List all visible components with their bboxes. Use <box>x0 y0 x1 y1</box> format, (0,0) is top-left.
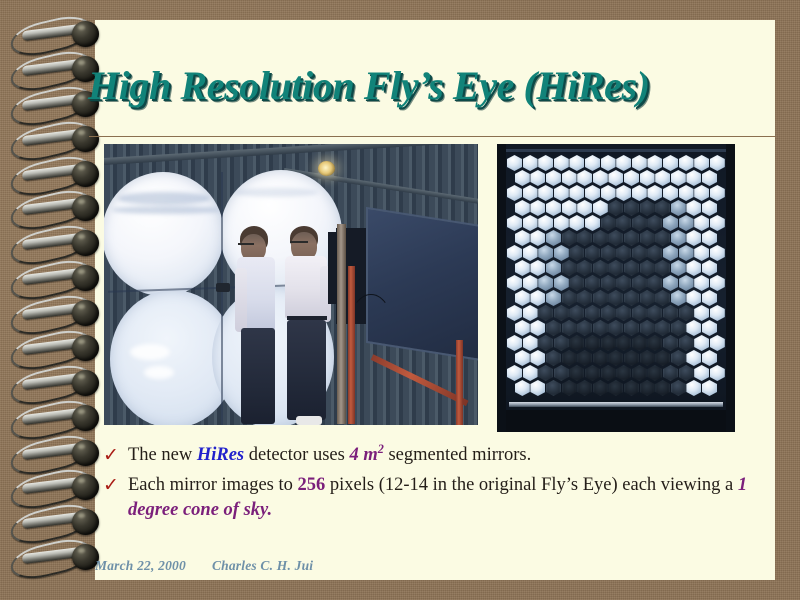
pmt-tube <box>538 185 553 201</box>
pmt-tube <box>640 170 655 186</box>
person-right-glasses <box>290 241 308 247</box>
pmt-tube <box>546 320 561 336</box>
pmt-tube <box>538 275 553 291</box>
pmt-tube <box>585 155 600 171</box>
title-divider-rule <box>89 136 775 137</box>
list-item: ✓ Each mirror images to 256 pixels (12-1… <box>100 473 760 523</box>
bullet-1-seg-0: The new <box>128 445 197 465</box>
pmt-tube <box>686 230 701 246</box>
footer-date: March 22, 2000 <box>95 558 186 573</box>
bullet-1-hires-emphasis: HiRes <box>197 445 244 465</box>
pmt-tube <box>694 365 709 381</box>
pmt-tube <box>647 335 662 351</box>
pmt-tube <box>624 170 639 186</box>
pmt-tube <box>601 335 616 351</box>
pmt-tube <box>655 350 670 366</box>
pmt-tube <box>702 230 717 246</box>
pmt-tube <box>577 380 592 396</box>
pmt-tube <box>686 260 701 276</box>
pmt-tube <box>546 290 561 306</box>
bullet-1-seg-5: segmented mirrors. <box>384 445 531 465</box>
pmt-tube <box>523 305 538 321</box>
bullet-2-pixel-count: 256 <box>298 475 326 495</box>
pmt-tube <box>562 260 577 276</box>
pmt-tube <box>710 245 725 261</box>
pmt-tube <box>663 245 678 261</box>
pmt-tube <box>671 320 686 336</box>
pmt-tube <box>616 365 631 381</box>
pmt-tube <box>546 230 561 246</box>
pmt-tube <box>671 380 686 396</box>
pmt-tube <box>577 260 592 276</box>
pmt-tube <box>608 320 623 336</box>
pmt-tube <box>577 350 592 366</box>
pmt-tube <box>632 215 647 231</box>
pmt-tube <box>671 200 686 216</box>
mirror-segment-top-left <box>104 172 224 296</box>
pmt-tube <box>686 320 701 336</box>
pmt-tube <box>577 200 592 216</box>
pmt-tube <box>663 215 678 231</box>
person-right-pants <box>287 320 326 420</box>
pmt-tube <box>523 275 538 291</box>
pmt-tube <box>601 185 616 201</box>
pmt-tube <box>538 335 553 351</box>
pmt-tube <box>507 245 522 261</box>
pmt-tube <box>679 185 694 201</box>
pmt-tube <box>655 320 670 336</box>
pmt-tube <box>530 170 545 186</box>
checkmark-icon: ✓ <box>100 443 128 467</box>
pmt-tube <box>593 200 608 216</box>
pmt-tube <box>554 185 569 201</box>
pmt-tube <box>679 155 694 171</box>
bullet-list: ✓ The new HiRes detector uses 4 m2 segme… <box>100 443 760 528</box>
pmt-tube <box>616 305 631 321</box>
bullet-text-1: The new HiRes detector uses 4 m2 segment… <box>128 443 760 468</box>
mirror-smudge-3 <box>234 188 318 197</box>
pmt-tube <box>507 155 522 171</box>
pmt-tube <box>523 215 538 231</box>
pmt-tube <box>694 245 709 261</box>
pmt-tube <box>640 260 655 276</box>
pmt-tube <box>593 230 608 246</box>
person-left-pants <box>241 328 275 424</box>
pmt-tube <box>616 215 631 231</box>
pmt-tube <box>608 260 623 276</box>
pmt-tube <box>663 305 678 321</box>
person-left-arm <box>235 268 247 332</box>
pmt-tube <box>710 305 725 321</box>
pmt-tube <box>569 185 584 201</box>
pmt-tube <box>702 170 717 186</box>
pmt-tube <box>569 365 584 381</box>
pmt-tube <box>702 290 717 306</box>
pmt-tube <box>655 230 670 246</box>
pmt-tube <box>663 155 678 171</box>
pmt-tube <box>679 305 694 321</box>
pmt-tube <box>562 350 577 366</box>
pmt-tube <box>710 215 725 231</box>
pmt-tube <box>616 185 631 201</box>
pmt-tube <box>616 245 631 261</box>
checkmark-icon: ✓ <box>100 473 128 497</box>
pmt-tube <box>569 335 584 351</box>
pmt-tube <box>601 215 616 231</box>
pmt-tube <box>577 320 592 336</box>
pmt-tube <box>663 335 678 351</box>
pmt-tube <box>523 155 538 171</box>
pmt-tube <box>608 170 623 186</box>
pmt-tube <box>647 365 662 381</box>
pmt-tube <box>530 260 545 276</box>
mirror-smudge <box>118 192 210 205</box>
pmt-tube <box>702 260 717 276</box>
pmt-tube <box>679 215 694 231</box>
pmt-tube <box>624 320 639 336</box>
pmt-tube <box>632 305 647 321</box>
pmt-tube <box>554 335 569 351</box>
pmt-tube <box>538 365 553 381</box>
pmt-tube <box>538 155 553 171</box>
pmt-tube <box>515 200 530 216</box>
pmt-tube <box>640 230 655 246</box>
pmt-tube <box>632 185 647 201</box>
title-block: High Resolution Fly’s Eye (HiRes) <box>88 62 778 124</box>
pmt-tube <box>523 365 538 381</box>
pmt-tube <box>562 170 577 186</box>
pmt-tube <box>671 170 686 186</box>
pmt-tube <box>515 230 530 246</box>
pmt-tube <box>569 305 584 321</box>
pmt-tube <box>632 365 647 381</box>
pmt-tube <box>647 185 662 201</box>
pmt-tube <box>546 380 561 396</box>
pmt-tube <box>694 155 709 171</box>
camera-left-edge <box>497 144 506 432</box>
slide: High Resolution Fly’s Eye (HiRes) <box>0 0 800 600</box>
pmt-tube <box>671 230 686 246</box>
bullet-text-2: Each mirror images to 256 pixels (12-14 … <box>128 473 760 523</box>
pmt-tube <box>530 320 545 336</box>
pmt-tube <box>530 380 545 396</box>
mirror-seam-vertical <box>221 172 223 425</box>
pmt-tube <box>616 335 631 351</box>
camera-rail <box>509 402 723 407</box>
camera-right-edge <box>726 144 735 432</box>
pmt-tube <box>530 350 545 366</box>
pmt-tube <box>538 215 553 231</box>
pmt-tube <box>686 350 701 366</box>
pmt-tube <box>686 170 701 186</box>
pmt-tube <box>593 380 608 396</box>
pmt-tube <box>601 245 616 261</box>
pmt-tube <box>655 170 670 186</box>
pmt-tube <box>608 290 623 306</box>
pmt-tube <box>585 275 600 291</box>
pmt-tube <box>530 290 545 306</box>
pmt-tube <box>702 350 717 366</box>
pmt-tube <box>624 200 639 216</box>
pmt-tube <box>647 305 662 321</box>
pmt-tube <box>515 260 530 276</box>
pmt-tube <box>710 155 725 171</box>
pmt-tube <box>702 200 717 216</box>
pmt-tube <box>702 320 717 336</box>
pmt-tube <box>679 365 694 381</box>
mirror-reflection-cloud-2 <box>144 366 174 379</box>
pmt-tube <box>562 200 577 216</box>
pmt-tube <box>640 200 655 216</box>
pmt-tube <box>632 335 647 351</box>
pmt-tube <box>585 305 600 321</box>
pmt-tube <box>507 275 522 291</box>
pmt-tube <box>601 155 616 171</box>
footer-author: Charles C. H. Jui <box>212 558 313 573</box>
pmt-tube <box>569 155 584 171</box>
pmt-tube <box>515 290 530 306</box>
bullet-1-seg-2: detector uses <box>244 445 349 465</box>
pmt-tube <box>554 365 569 381</box>
pmt-tube <box>640 380 655 396</box>
person-right-shoe <box>296 416 322 425</box>
vertical-support-post <box>337 224 346 424</box>
pmt-tube <box>515 320 530 336</box>
pmt-tube <box>632 155 647 171</box>
pmt-tube <box>554 155 569 171</box>
pmt-tube <box>694 185 709 201</box>
pmt-tube <box>585 245 600 261</box>
pmt-tube <box>679 335 694 351</box>
pmt-tube <box>655 380 670 396</box>
slide-footer: March 22, 2000Charles C. H. Jui <box>95 558 695 574</box>
pmt-tube <box>655 260 670 276</box>
pmt-tube <box>710 185 725 201</box>
ceiling-lamp <box>318 161 335 176</box>
pmt-tube <box>507 365 522 381</box>
pmt-tube <box>554 275 569 291</box>
pmt-tube <box>710 365 725 381</box>
hanging-cable <box>348 294 394 366</box>
pmt-tube <box>694 305 709 321</box>
pmt-tube <box>624 380 639 396</box>
pmt-tube <box>593 170 608 186</box>
pmt-tube <box>647 215 662 231</box>
pmt-tube <box>546 200 561 216</box>
pmt-tube <box>515 380 530 396</box>
pmt-tube <box>710 275 725 291</box>
pmt-tube <box>554 215 569 231</box>
pmt-tube <box>647 245 662 261</box>
pmt-tube <box>569 215 584 231</box>
pmt-tube <box>569 275 584 291</box>
pmt-tube <box>585 185 600 201</box>
mirror-smudge-2 <box>112 206 220 214</box>
pmt-tube <box>523 335 538 351</box>
pmt-tube <box>601 275 616 291</box>
segmented-mirror-photo <box>104 144 478 425</box>
pmt-tube <box>515 170 530 186</box>
pmt-tube <box>608 380 623 396</box>
pmt-tube <box>562 290 577 306</box>
pmt-tube <box>679 275 694 291</box>
pmt-tube <box>647 155 662 171</box>
pmt-tube <box>562 320 577 336</box>
pmt-tube <box>694 215 709 231</box>
pmt-tube <box>585 215 600 231</box>
pmt-tube <box>562 230 577 246</box>
pmt-tube <box>608 350 623 366</box>
bullet-1-area-emphasis: 4 m <box>349 445 377 465</box>
pmt-tube <box>601 305 616 321</box>
pmt-tube <box>624 350 639 366</box>
pmt-tube <box>624 230 639 246</box>
pmt-tube <box>640 350 655 366</box>
pmt-tube <box>515 350 530 366</box>
pmt-tube <box>546 170 561 186</box>
page-title: High Resolution Fly’s Eye (HiRes) <box>88 62 778 109</box>
pmt-tube <box>694 335 709 351</box>
person-left-glasses <box>238 243 254 249</box>
mirror-reflection-cloud <box>130 344 170 360</box>
pmt-tube <box>679 245 694 261</box>
pmt-tube <box>702 380 717 396</box>
pmt-tube <box>663 365 678 381</box>
pmt-tube <box>538 245 553 261</box>
pmt-tube <box>686 380 701 396</box>
pmt-tube <box>616 155 631 171</box>
pmt-tube <box>507 335 522 351</box>
pmt-tube <box>593 260 608 276</box>
pmt-tube <box>624 260 639 276</box>
pmt-tube <box>671 290 686 306</box>
pmt-tube <box>585 365 600 381</box>
pmt-tube <box>663 185 678 201</box>
mirror-center-hub <box>216 283 230 292</box>
pmt-tube <box>655 200 670 216</box>
camera-base-shadow <box>505 410 727 432</box>
pmt-tube <box>538 305 553 321</box>
bullet-2-seg-2: pixels (12-14 in the original Fly’s Eye)… <box>325 475 738 495</box>
pmt-tube <box>530 230 545 246</box>
pmt-tube <box>523 185 538 201</box>
pmt-tube <box>671 350 686 366</box>
pmt-tube <box>640 320 655 336</box>
pmt-tube <box>663 275 678 291</box>
pmt-tube <box>554 245 569 261</box>
pmt-tube <box>577 230 592 246</box>
pmt-tube <box>710 335 725 351</box>
pmt-tube <box>632 275 647 291</box>
pmt-tube <box>632 245 647 261</box>
pmt-tube <box>608 230 623 246</box>
pmt-tube <box>616 275 631 291</box>
pmt-tube <box>569 245 584 261</box>
pmt-tube <box>608 200 623 216</box>
pmt-tube <box>585 335 600 351</box>
pmt-tube <box>671 260 686 276</box>
pmt-tube <box>577 290 592 306</box>
pmt-tube-array <box>507 155 725 398</box>
pmt-tube <box>546 260 561 276</box>
red-scaffold-upright-right <box>456 340 463 425</box>
pmt-tube <box>593 350 608 366</box>
pmt-tube <box>624 290 639 306</box>
pmt-tube <box>686 200 701 216</box>
pmt-tube <box>593 320 608 336</box>
pmt-tube <box>601 365 616 381</box>
bullet-2-seg-0: Each mirror images to <box>128 475 298 495</box>
pmt-tube <box>647 275 662 291</box>
pmt-tube <box>562 380 577 396</box>
pmt-tube <box>655 290 670 306</box>
pmt-tube <box>593 290 608 306</box>
pmt-tube <box>507 215 522 231</box>
pmt-tube <box>546 350 561 366</box>
pmt-tube <box>507 305 522 321</box>
pmt-tube <box>640 290 655 306</box>
list-item: ✓ The new HiRes detector uses 4 m2 segme… <box>100 443 760 468</box>
pmt-tube <box>507 185 522 201</box>
pmt-tube <box>694 275 709 291</box>
pmt-camera-photo <box>497 144 735 432</box>
pmt-tube <box>554 305 569 321</box>
pmt-tube <box>523 245 538 261</box>
pmt-tube <box>577 170 592 186</box>
pmt-tube <box>686 290 701 306</box>
pmt-tube <box>530 200 545 216</box>
